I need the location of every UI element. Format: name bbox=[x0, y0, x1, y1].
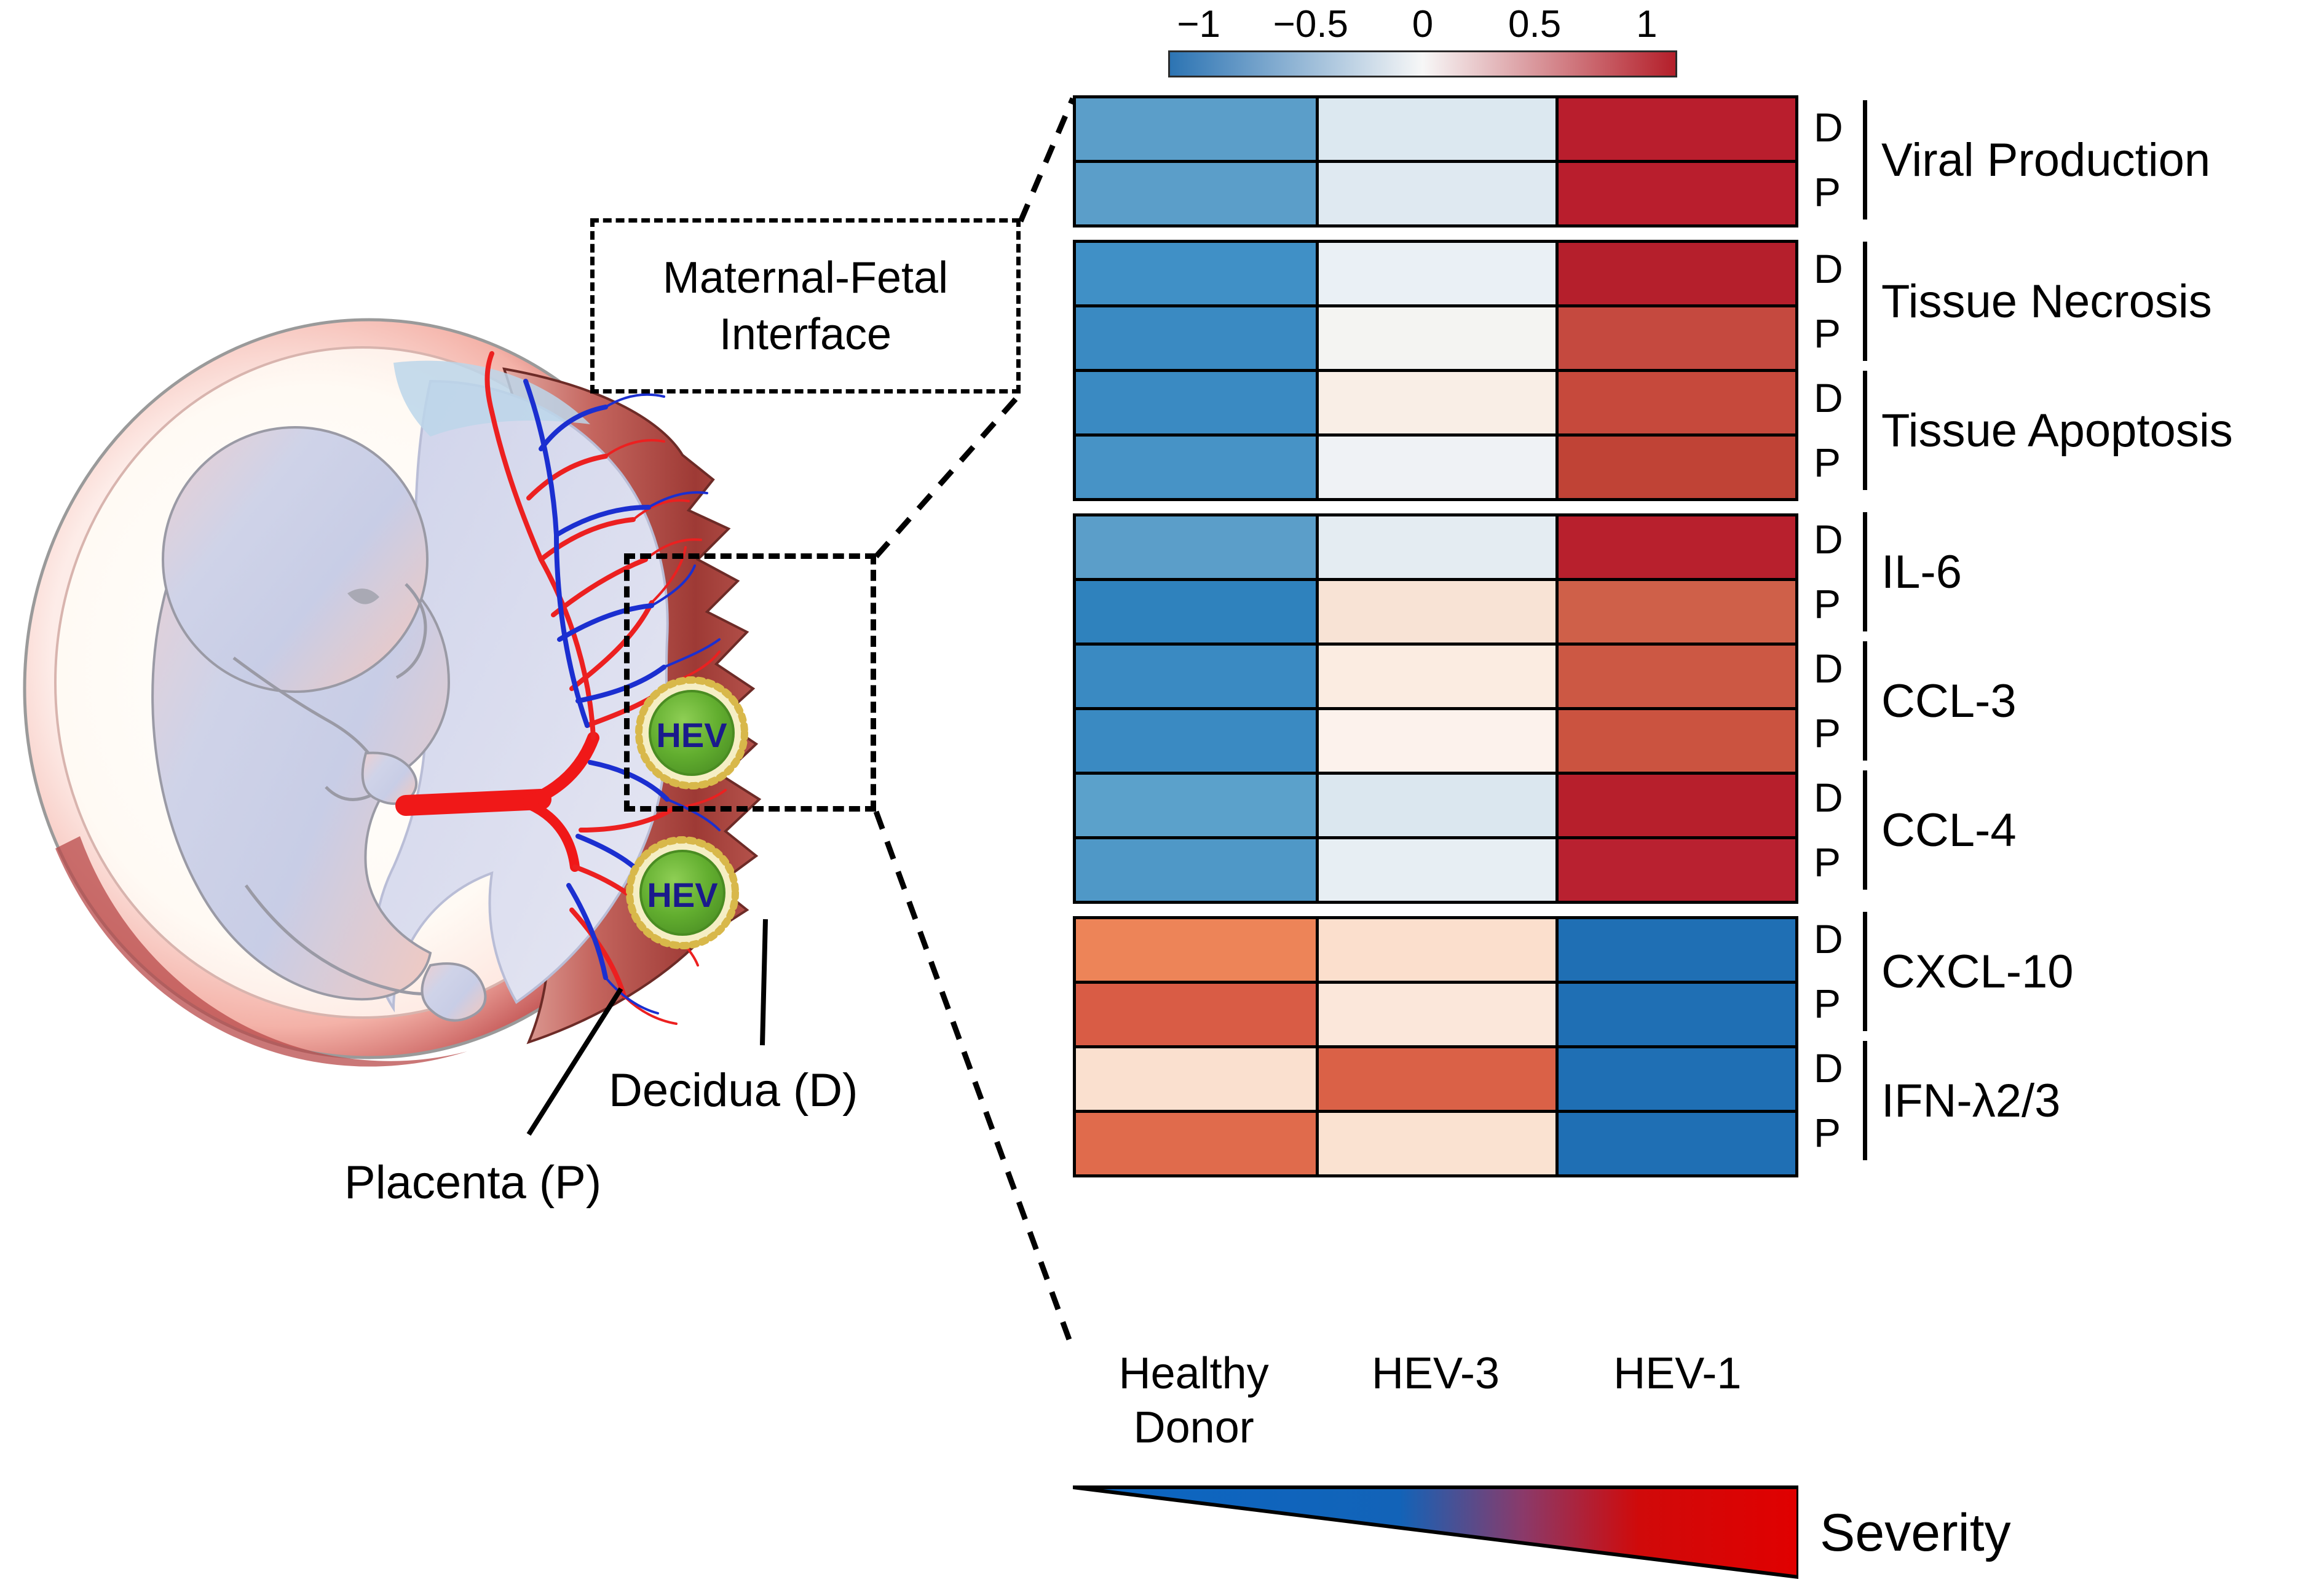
heatmap-cell[interactable] bbox=[1555, 984, 1795, 1045]
heatmap-cell[interactable] bbox=[1555, 163, 1795, 224]
column-header-1: HEV-3 bbox=[1314, 1347, 1556, 1463]
feature-label: CCL-4 bbox=[1881, 765, 2017, 895]
tissue-code-P: P bbox=[1814, 830, 1859, 895]
heatmap-row bbox=[1076, 578, 1795, 643]
heatmap-cell[interactable] bbox=[1555, 839, 1795, 901]
heatmap-cell[interactable] bbox=[1555, 1113, 1795, 1174]
maternal-fetal-interface-box: Maternal-Fetal Interface bbox=[590, 218, 1021, 394]
fetus-head bbox=[163, 427, 427, 692]
heatmap-cell[interactable] bbox=[1555, 372, 1795, 433]
feature-label: IL-6 bbox=[1881, 507, 1962, 636]
heatmap-cell[interactable] bbox=[1316, 372, 1555, 433]
feature-bracket bbox=[1863, 912, 1867, 1031]
decidua-label: Decidua (D) bbox=[609, 1064, 858, 1117]
colorbar-tick-0: −1 bbox=[1177, 0, 1220, 49]
colorbar bbox=[1168, 50, 1677, 77]
colorbar-tick-2: 0 bbox=[1412, 0, 1433, 49]
heatmap-cell[interactable] bbox=[1316, 243, 1555, 304]
row-label-block-3: DPCXCL-10DPIFN-λ2/3 bbox=[1814, 907, 2324, 1165]
heatmap-cell[interactable] bbox=[1316, 516, 1555, 578]
feature-bracket bbox=[1863, 770, 1867, 890]
heatmap-row bbox=[1076, 707, 1795, 772]
heatmap-cell[interactable] bbox=[1316, 710, 1555, 772]
feature-label: Tissue Apoptosis bbox=[1881, 366, 2233, 495]
tissue-codes: DP bbox=[1814, 765, 1859, 895]
heatmap-block-3 bbox=[1073, 916, 1798, 1177]
feature-label: Tissue Necrosis bbox=[1881, 237, 2212, 366]
heatmap-row bbox=[1076, 772, 1795, 836]
heatmap-row bbox=[1076, 243, 1795, 304]
heatmap-cell[interactable] bbox=[1316, 775, 1555, 836]
heatmap-block-1 bbox=[1073, 240, 1798, 501]
tissue-code-D: D bbox=[1814, 95, 1859, 160]
tissue-codes: DP bbox=[1814, 366, 1859, 495]
heatmap-cell[interactable] bbox=[1076, 1113, 1316, 1174]
tissue-code-D: D bbox=[1814, 507, 1859, 572]
row-label-block-1: DPTissue NecrosisDPTissue Apoptosis bbox=[1814, 237, 2324, 495]
heatmap-cell[interactable] bbox=[1316, 307, 1555, 369]
heatmap-cell[interactable] bbox=[1316, 163, 1555, 224]
heatmap-row bbox=[1076, 1110, 1795, 1174]
heatmap-cell[interactable] bbox=[1076, 372, 1316, 433]
heatmap-cell[interactable] bbox=[1076, 984, 1316, 1045]
row-label-block-2: DPIL-6DPCCL-3DPCCL-4 bbox=[1814, 507, 2324, 895]
heatmap-cell[interactable] bbox=[1076, 710, 1316, 772]
heatmap-cell[interactable] bbox=[1555, 710, 1795, 772]
column-header-line: Donor bbox=[1073, 1401, 1314, 1455]
umbilical-cord bbox=[406, 799, 541, 805]
heatmap-cell[interactable] bbox=[1555, 243, 1795, 304]
heatmap-cell[interactable] bbox=[1076, 775, 1316, 836]
feature-label: CXCL-10 bbox=[1881, 907, 2074, 1036]
column-header-2: HEV-1 bbox=[1557, 1347, 1798, 1463]
heatmap-cell[interactable] bbox=[1076, 437, 1316, 498]
heatmap-cell[interactable] bbox=[1555, 581, 1795, 643]
row-label-group-0: DPViral Production bbox=[1814, 95, 2324, 224]
tissue-code-D: D bbox=[1814, 237, 1859, 301]
row-label-group-2: DPTissue Apoptosis bbox=[1814, 366, 2324, 495]
mfi-to-heatmap-top bbox=[1021, 98, 1073, 221]
heatmap-row bbox=[1076, 98, 1795, 160]
heatmap-cell[interactable] bbox=[1316, 98, 1555, 160]
row-label-block-0: DPViral Production bbox=[1814, 95, 2324, 224]
feature-bracket bbox=[1863, 371, 1867, 490]
svg-text:HEV: HEV bbox=[647, 876, 717, 914]
heatmap-row bbox=[1076, 1045, 1795, 1110]
tissue-code-P: P bbox=[1814, 701, 1859, 765]
column-header-line: HEV-1 bbox=[1557, 1347, 1798, 1401]
colorbar-gradient bbox=[1168, 50, 1677, 77]
heatmap-cell[interactable] bbox=[1555, 98, 1795, 160]
tissue-code-P: P bbox=[1814, 572, 1859, 636]
row-label-group-7: DPIFN-λ2/3 bbox=[1814, 1036, 2324, 1165]
colorbar-tick-labels: −1−0.500.51 bbox=[1168, 0, 1677, 49]
tissue-code-P: P bbox=[1814, 160, 1859, 224]
tissue-code-D: D bbox=[1814, 907, 1859, 971]
heatmap-row-labels: DPViral ProductionDPTissue NecrosisDPTis… bbox=[1814, 95, 2324, 1177]
heatmap-cell[interactable] bbox=[1316, 839, 1555, 901]
heatmap-cell[interactable] bbox=[1316, 646, 1555, 707]
heatmap-row bbox=[1076, 516, 1795, 578]
tissue-code-P: P bbox=[1814, 301, 1859, 366]
tissue-codes: DP bbox=[1814, 95, 1859, 224]
colorbar-tick-3: 0.5 bbox=[1508, 0, 1561, 49]
tissue-code-D: D bbox=[1814, 765, 1859, 830]
row-label-group-1: DPTissue Necrosis bbox=[1814, 237, 2324, 366]
heatmap-cell[interactable] bbox=[1076, 307, 1316, 369]
feature-label: IFN-λ2/3 bbox=[1881, 1036, 2060, 1165]
heatmap-cell[interactable] bbox=[1555, 775, 1795, 836]
heatmap-cell[interactable] bbox=[1555, 516, 1795, 578]
tissue-codes: DP bbox=[1814, 237, 1859, 366]
tissue-codes: DP bbox=[1814, 1036, 1859, 1165]
heatmap-row bbox=[1076, 981, 1795, 1045]
heatmap-row bbox=[1076, 369, 1795, 433]
heatmap-row bbox=[1076, 433, 1795, 498]
heatmap-block-0 bbox=[1073, 95, 1798, 227]
decidua-zoom-box bbox=[624, 553, 876, 812]
tissue-codes: DP bbox=[1814, 907, 1859, 1036]
heatmap-column-headers: HealthyDonorHEV-3HEV-1 bbox=[1073, 1347, 1798, 1463]
mfi-line-2: Interface bbox=[719, 306, 891, 363]
heatmap-row bbox=[1076, 919, 1795, 981]
tissue-code-D: D bbox=[1814, 366, 1859, 430]
row-label-group-3: DPIL-6 bbox=[1814, 507, 2324, 636]
feature-bracket bbox=[1863, 242, 1867, 361]
heatmap-cell[interactable] bbox=[1316, 581, 1555, 643]
heatmap-cell[interactable] bbox=[1316, 919, 1555, 981]
heatmap-cell[interactable] bbox=[1555, 1048, 1795, 1110]
severity-triangle bbox=[1073, 1484, 1798, 1579]
row-label-group-4: DPCCL-3 bbox=[1814, 636, 2324, 765]
heatmap-cell[interactable] bbox=[1316, 984, 1555, 1045]
heatmap-cell[interactable] bbox=[1076, 646, 1316, 707]
column-header-line: Healthy bbox=[1073, 1347, 1314, 1401]
heatmap-cell[interactable] bbox=[1076, 839, 1316, 901]
heatmap-cell[interactable] bbox=[1555, 437, 1795, 498]
row-label-group-6: DPCXCL-10 bbox=[1814, 907, 2324, 1036]
row-label-group-5: DPCCL-4 bbox=[1814, 765, 2324, 895]
tissue-codes: DP bbox=[1814, 507, 1859, 636]
hev-virion-lower: HEV bbox=[630, 840, 735, 946]
feature-bracket bbox=[1863, 1041, 1867, 1160]
heatmap-grid bbox=[1073, 95, 1798, 1190]
tissue-code-P: P bbox=[1814, 971, 1859, 1036]
colorbar-tick-1: −0.5 bbox=[1273, 0, 1348, 49]
column-header-0: HealthyDonor bbox=[1073, 1347, 1314, 1463]
placenta-label: Placenta (P) bbox=[344, 1156, 601, 1209]
column-header-line: HEV-3 bbox=[1314, 1347, 1556, 1401]
heatmap-cell[interactable] bbox=[1555, 646, 1795, 707]
feature-label: Viral Production bbox=[1881, 95, 2210, 224]
heatmap-cell[interactable] bbox=[1076, 243, 1316, 304]
heatmap-cell[interactable] bbox=[1076, 516, 1316, 578]
heatmap-row bbox=[1076, 643, 1795, 707]
severity-label: Severity bbox=[1820, 1487, 2011, 1579]
feature-bracket bbox=[1863, 641, 1867, 761]
mfi-line-1: Maternal-Fetal bbox=[663, 250, 948, 306]
heatmap-row bbox=[1076, 160, 1795, 224]
heatmap-cell[interactable] bbox=[1076, 581, 1316, 643]
feature-bracket bbox=[1863, 100, 1867, 220]
feature-label: CCL-3 bbox=[1881, 636, 2017, 765]
tissue-code-D: D bbox=[1814, 1036, 1859, 1101]
tissue-code-P: P bbox=[1814, 1101, 1859, 1165]
tissue-code-P: P bbox=[1814, 430, 1859, 495]
colorbar-tick-4: 1 bbox=[1636, 0, 1657, 49]
feature-bracket bbox=[1863, 512, 1867, 631]
heatmap-cell[interactable] bbox=[1076, 1048, 1316, 1110]
heatmap-row bbox=[1076, 836, 1795, 901]
heatmap-cell[interactable] bbox=[1076, 163, 1316, 224]
heatmap-cell[interactable] bbox=[1076, 919, 1316, 981]
tissue-codes: DP bbox=[1814, 636, 1859, 765]
tissue-code-D: D bbox=[1814, 636, 1859, 701]
heatmap-cell[interactable] bbox=[1316, 1113, 1555, 1174]
heatmap-cell[interactable] bbox=[1555, 919, 1795, 981]
heatmap-row bbox=[1076, 304, 1795, 369]
heatmap-cell[interactable] bbox=[1316, 1048, 1555, 1110]
heatmap-cell[interactable] bbox=[1555, 307, 1795, 369]
heatmap-block-2 bbox=[1073, 513, 1798, 904]
heatmap-cell[interactable] bbox=[1316, 437, 1555, 498]
heatmap-cell[interactable] bbox=[1076, 98, 1316, 160]
